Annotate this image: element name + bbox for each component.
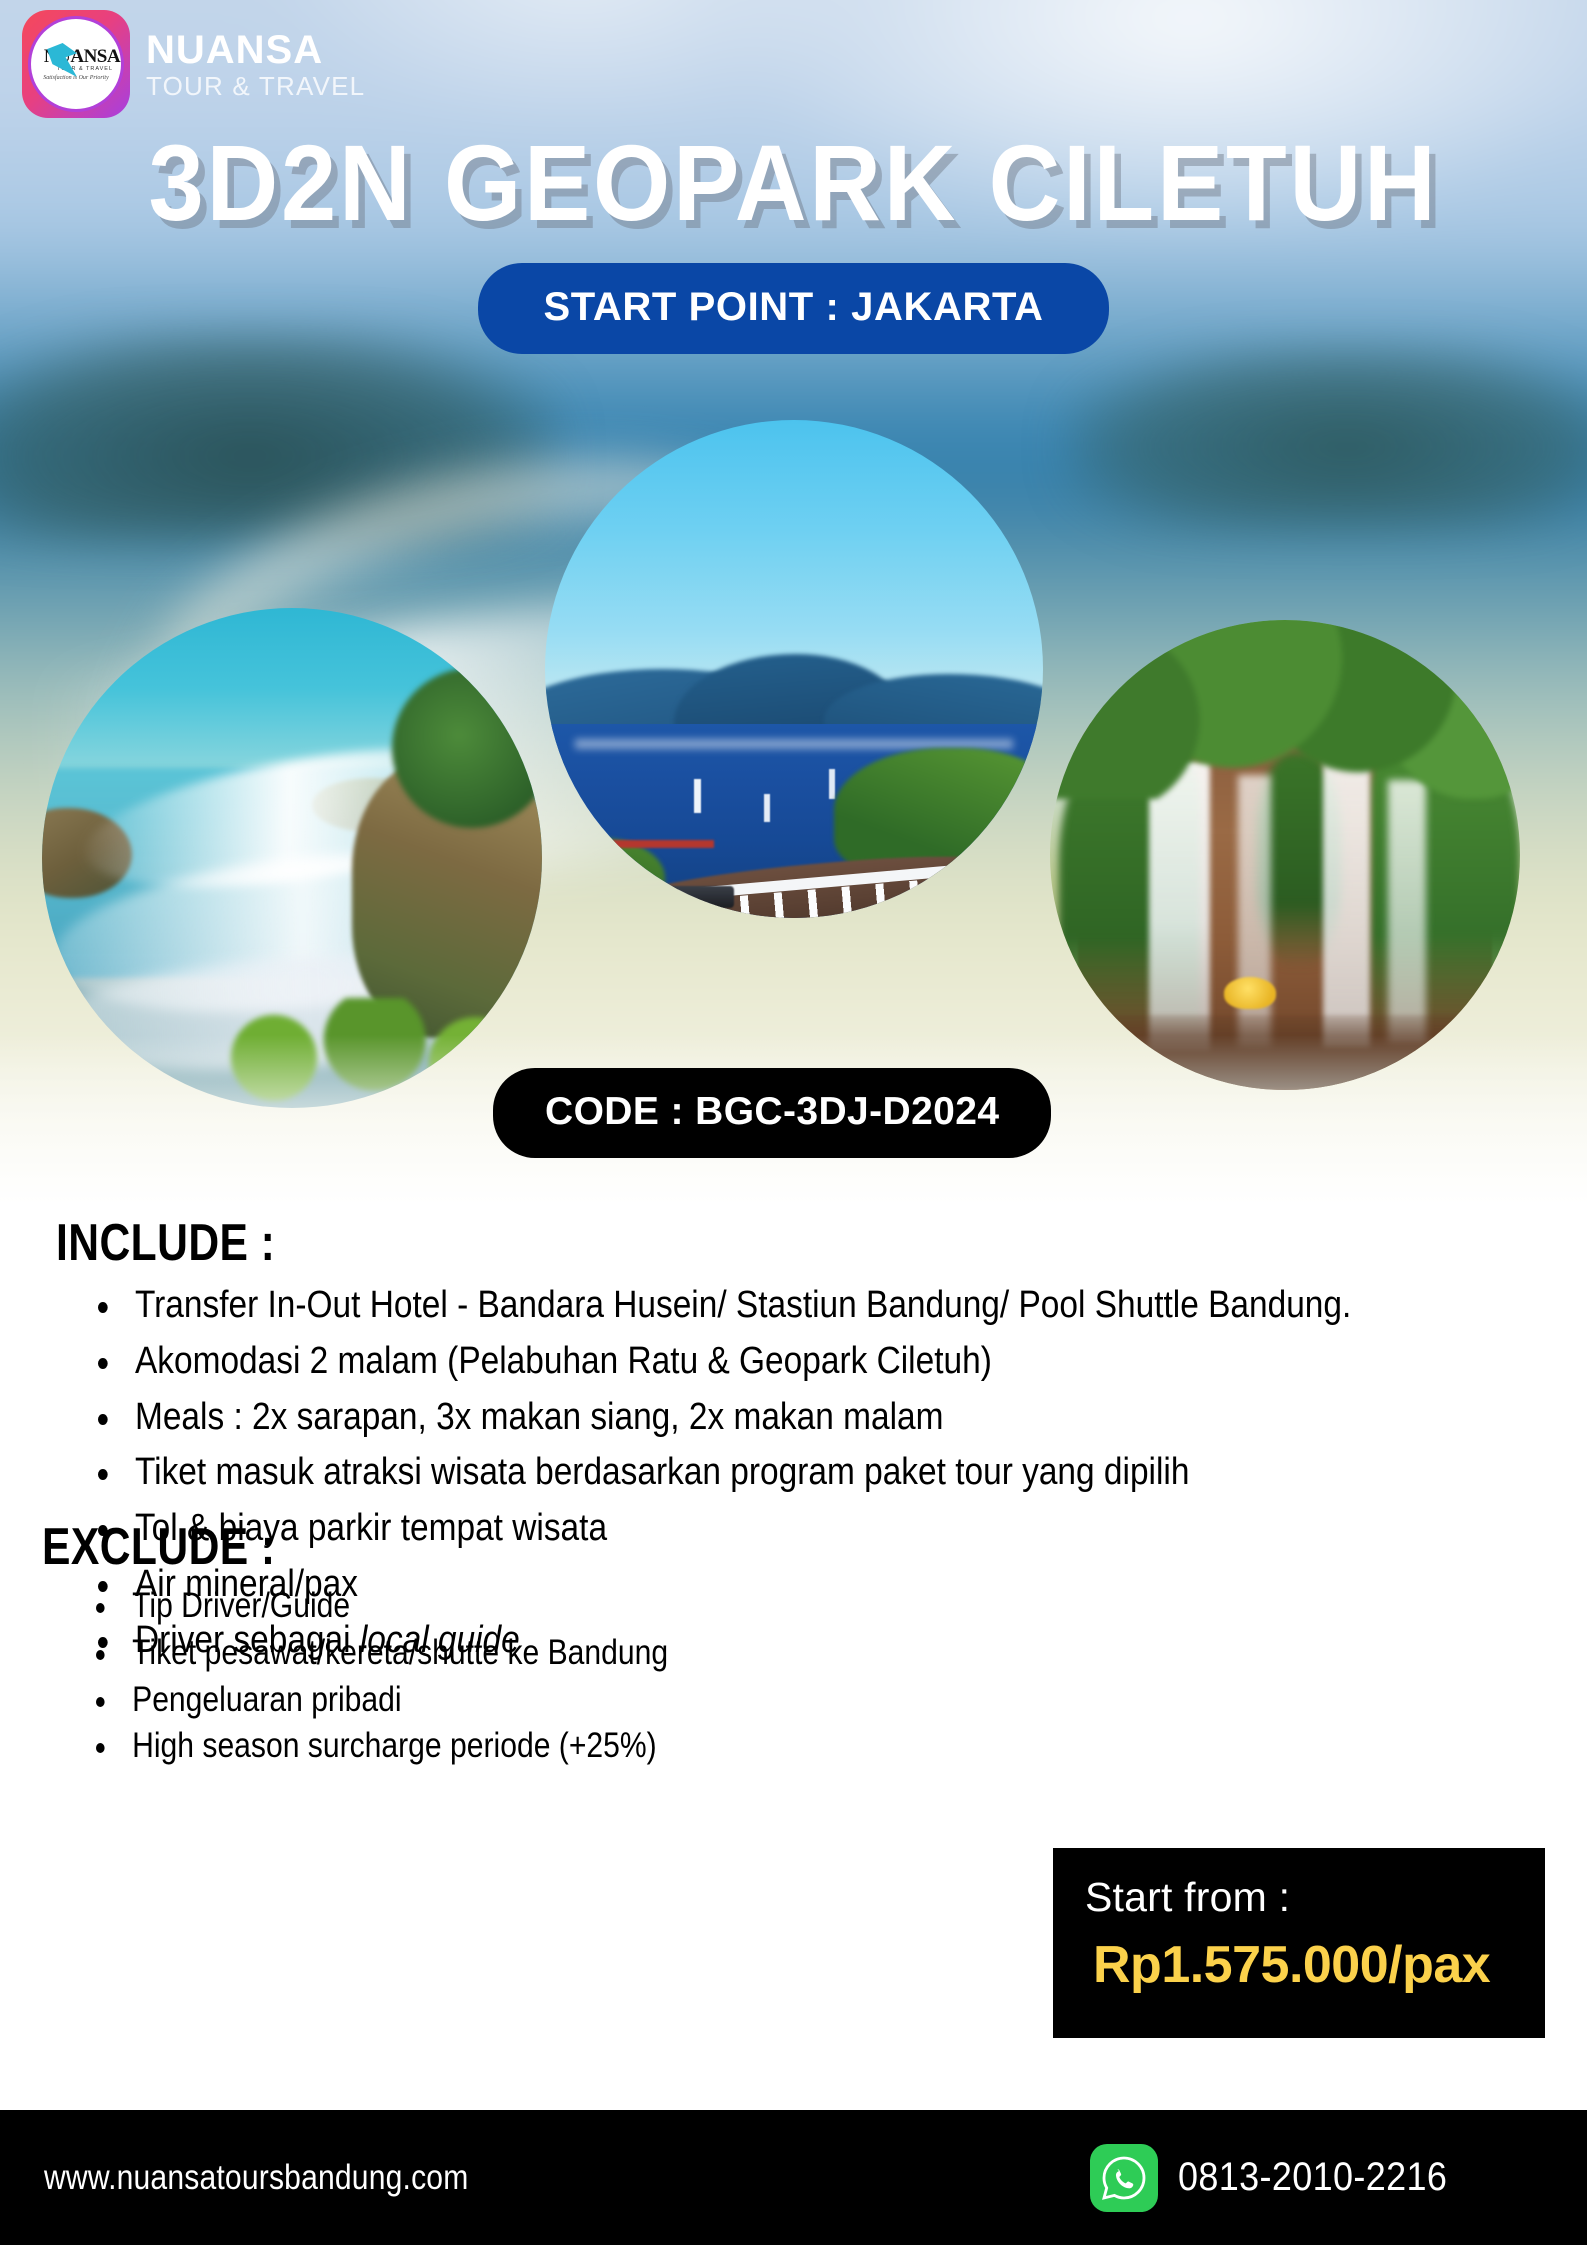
brand-name: NUANSA [146,30,365,70]
poster: NUANSA TOUR & TRAVEL Satisfaction is Our… [0,0,1587,2245]
brand-header: NUANSA TOUR & TRAVEL Satisfaction is Our… [22,10,365,118]
waterfall-photo [1050,620,1520,1090]
whatsapp-contact[interactable]: 0813-2010-2216 [1090,2144,1477,2212]
whatsapp-icon[interactable] [1090,2144,1158,2212]
bay-bridge-photo [545,420,1043,918]
beach-bay-photo [42,608,542,1108]
list-item: Tiket masuk atraksi wisata berdasarkan p… [98,1448,1356,1498]
list-item: Pengeluaran pribadi [96,1681,956,1719]
list-item: High season surcharge periode (+25%) [96,1727,956,1765]
package-code-badge: CODE : BGC-3DJ-D2024 [493,1068,1051,1158]
exclude-list: Tip Driver/Guide Tiket pesawat/kereta/sh… [96,1587,1096,1774]
list-item: Meals : 2x sarapan, 3x makan siang, 2x m… [98,1393,1356,1443]
list-item: Transfer In-Out Hotel - Bandara Husein/ … [98,1281,1356,1331]
list-item: Tol & biaya parkir tempat wisata [98,1504,1356,1554]
footer-bar: www.nuansatoursbandung.com 0813-2010-221… [0,2110,1587,2245]
list-item: Tiket pesawat/kereta/shutte ke Bandung [96,1634,956,1672]
list-item: Akomodasi 2 malam (Pelabuhan Ratu & Geop… [98,1337,1356,1387]
yellow-umbrella [1224,977,1276,1009]
start-point-badge: START POINT : JAKARTA [478,263,1110,354]
price-label: Start from : [1085,1874,1545,1921]
brand-tagline: TOUR & TRAVEL [146,70,365,103]
phone-number[interactable]: 0813-2010-2216 [1178,2155,1447,2200]
include-heading: INCLUDE : [56,1213,275,1273]
hero-headland-right [1067,345,1587,530]
page-title: 3D2N GEOPARK CILETUH [63,120,1523,245]
hero-section: NUANSA TOUR & TRAVEL Satisfaction is Our… [0,0,1587,1205]
website-link[interactable]: www.nuansatoursbandung.com [44,2158,468,2198]
exclude-heading: EXCLUDE : [42,1517,275,1577]
price-value: Rp1.575.000/pax [1093,1937,1545,1994]
list-item: Tip Driver/Guide [96,1587,956,1625]
price-box: Start from : Rp1.575.000/pax [1053,1848,1545,2038]
nuansa-bird-logo: NUANSA TOUR & TRAVEL Satisfaction is Our… [22,10,130,118]
